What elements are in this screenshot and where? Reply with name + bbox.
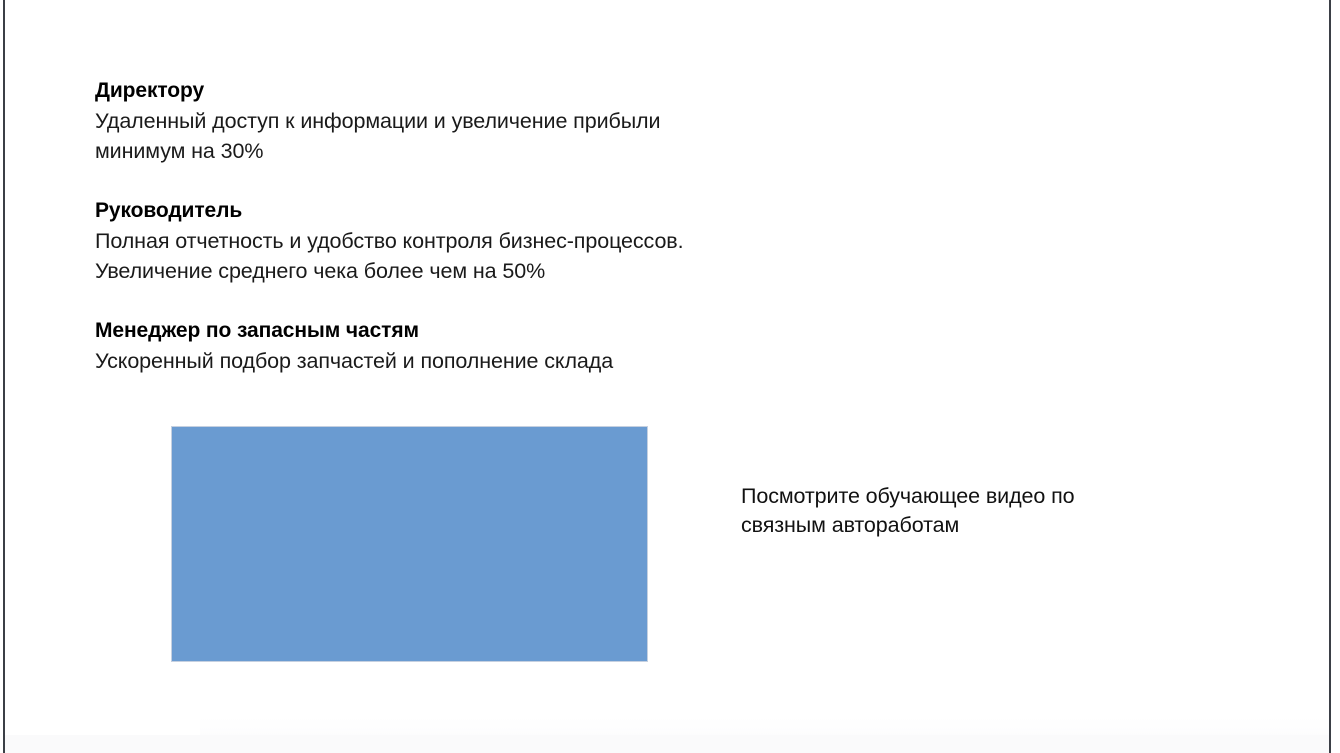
slide-bottom-band <box>5 735 1329 753</box>
benefit-block-director: Директору Удаленный доступ к информации … <box>95 76 795 166</box>
slide-canvas: Директору Удаленный доступ к информации … <box>0 0 1340 753</box>
slide-right-edge-rule <box>1329 0 1331 753</box>
video-caption-line-2: связным автоработам <box>741 511 1161 540</box>
benefit-block-manager: Руководитель Полная отчетность и удобств… <box>95 196 795 286</box>
benefit-heading-director: Директору <box>95 76 795 106</box>
benefits-text-column: Директору Удаленный доступ к информации … <box>95 76 795 376</box>
benefit-line-parts-manager-1: Ускоренный подбор запчастей и пополнение… <box>95 346 795 376</box>
benefit-heading-manager: Руководитель <box>95 196 795 226</box>
benefit-line-director-1: Удаленный доступ к информации и увеличен… <box>95 106 795 136</box>
video-caption: Посмотрите обучающее видео по связным ав… <box>741 482 1161 540</box>
video-placeholder-rect[interactable] <box>171 426 648 662</box>
slide-left-edge-rule <box>3 0 5 753</box>
video-caption-line-1: Посмотрите обучающее видео по <box>741 482 1161 511</box>
benefit-line-manager-1: Полная отчетность и удобство контроля би… <box>95 226 795 256</box>
benefit-block-parts-manager: Менеджер по запасным частям Ускоренный п… <box>95 316 795 376</box>
benefit-line-manager-2: Увеличение среднего чека более чем на 50… <box>95 256 795 286</box>
benefit-line-director-2: минимум на 30% <box>95 136 795 166</box>
benefit-heading-parts-manager: Менеджер по запасным частям <box>95 316 795 346</box>
